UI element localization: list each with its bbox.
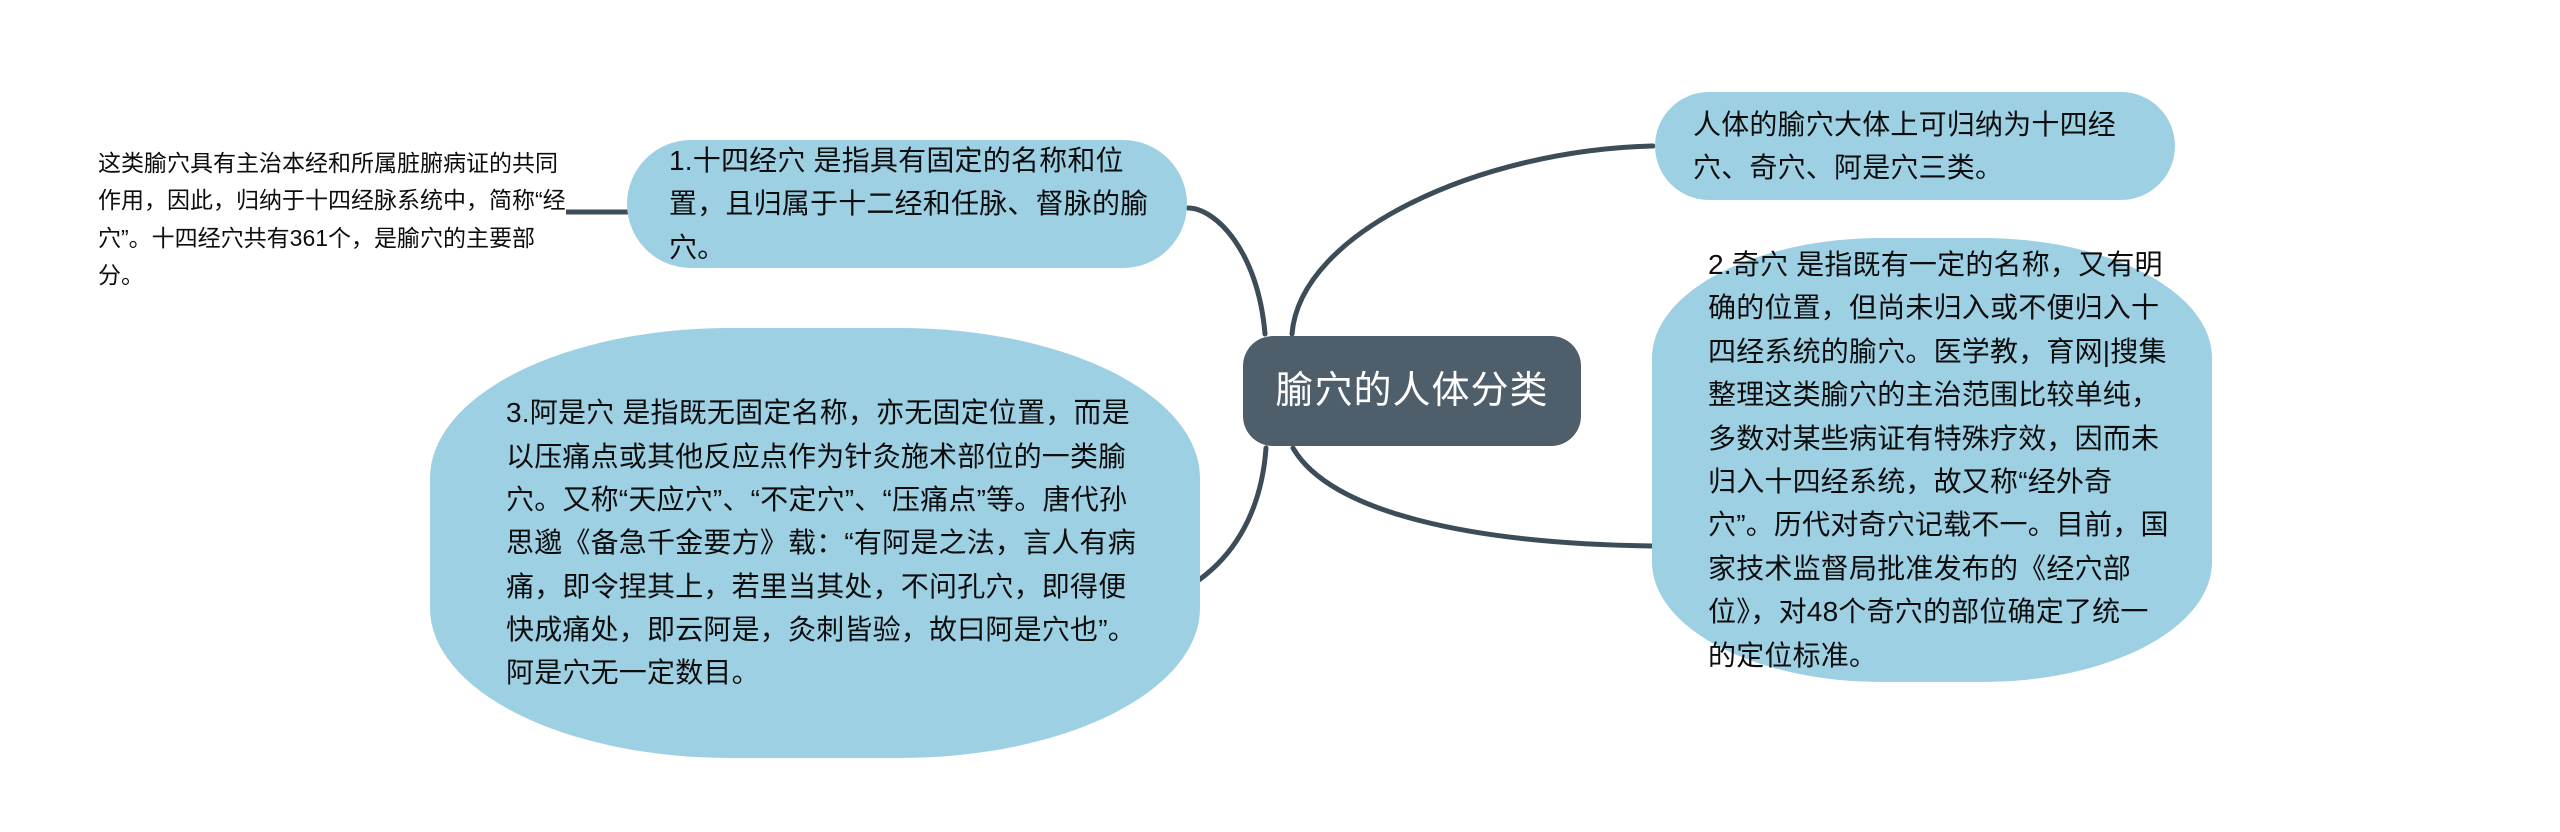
annotation-text: 这类腧穴具有主治本经和所属脏腑病证的共同作用，因此，归纳于十四经脉系统中，简称“…	[98, 145, 578, 294]
mindmap-canvas: 这类腧穴具有主治本经和所属脏腑病证的共同作用，因此，归纳于十四经脉系统中，简称“…	[0, 0, 2560, 832]
branch-node-label: 人体的腧穴大体上可归纳为十四经穴、奇穴、阿是穴三类。	[1693, 103, 2141, 190]
connector-root-to-summary	[1292, 146, 1653, 334]
branch-node-qixue[interactable]: 2.奇穴 是指既有一定的名称，又有明确的位置，但尚未归入或不便归入十四经系统的腧…	[1652, 238, 2212, 682]
branch-node-shisijingxue[interactable]: 1.十四经穴 是指具有固定的名称和位置，且归属于十二经和任脉、督脉的腧穴。	[627, 140, 1187, 268]
branch-node-summary[interactable]: 人体的腧穴大体上可归纳为十四经穴、奇穴、阿是穴三类。	[1655, 92, 2175, 200]
branch-node-label: 3.阿是穴 是指既无固定名称，亦无固定位置，而是以压痛点或其他反应点作为针灸施术…	[506, 391, 1140, 695]
connector-root-to-node1	[1188, 208, 1265, 334]
root-node[interactable]: 腧穴的人体分类	[1243, 336, 1581, 446]
root-node-label: 腧穴的人体分类	[1243, 362, 1581, 421]
branch-node-label: 2.奇穴 是指既有一定的名称，又有明确的位置，但尚未归入或不便归入十四经系统的腧…	[1708, 243, 2176, 677]
connector-root-to-node2	[1293, 448, 1655, 546]
branch-node-ashixue[interactable]: 3.阿是穴 是指既无固定名称，亦无固定位置，而是以压痛点或其他反应点作为针灸施术…	[430, 328, 1200, 758]
branch-node-label: 1.十四经穴 是指具有固定的名称和位置，且归属于十二经和任脉、督脉的腧穴。	[669, 139, 1153, 269]
